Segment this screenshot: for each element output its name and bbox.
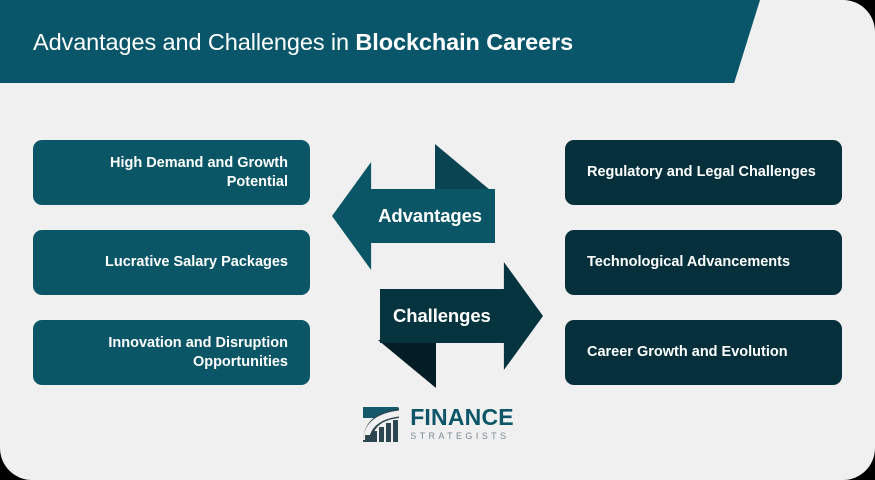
advantages-list: High Demand and Growth Potential Lucrati… bbox=[33, 140, 310, 385]
arrow-cluster: Advantages Challenges bbox=[330, 140, 545, 390]
list-item[interactable]: High Demand and Growth Potential bbox=[33, 140, 310, 205]
page-title-regular: Advantages and Challenges in bbox=[33, 29, 355, 55]
brand-logo[interactable]: FINANCE STRATEGISTS bbox=[0, 404, 875, 444]
list-item-label: Career Growth and Evolution bbox=[587, 343, 788, 362]
list-item[interactable]: Technological Advancements bbox=[565, 230, 842, 295]
list-item-label: Innovation and Disruption Opportunities bbox=[51, 334, 288, 372]
brand-logo-wordmark: FINANCE STRATEGISTS bbox=[410, 406, 514, 443]
brand-name-secondary: STRATEGISTS bbox=[410, 430, 514, 443]
list-item[interactable]: Innovation and Disruption Opportunities bbox=[33, 320, 310, 385]
infographic-root: Advantages and Challenges in Blockchain … bbox=[0, 0, 875, 480]
finance-strategists-bars-icon bbox=[361, 404, 401, 444]
list-item[interactable]: Regulatory and Legal Challenges bbox=[565, 140, 842, 205]
arrow-fold-bottom-icon bbox=[378, 340, 436, 388]
page-title: Advantages and Challenges in Blockchain … bbox=[33, 27, 733, 57]
list-item-label: Lucrative Salary Packages bbox=[105, 253, 288, 272]
list-item-label: Technological Advancements bbox=[587, 253, 790, 272]
arrow-fold-top-icon bbox=[435, 144, 490, 190]
list-item-label: High Demand and Growth Potential bbox=[51, 154, 288, 192]
challenges-arrow-label: Challenges bbox=[393, 305, 491, 327]
list-item[interactable]: Career Growth and Evolution bbox=[565, 320, 842, 385]
page-title-emphasis: Blockchain Careers bbox=[355, 29, 573, 55]
list-item-label: Regulatory and Legal Challenges bbox=[587, 163, 816, 182]
brand-name-primary: FINANCE bbox=[410, 406, 514, 429]
challenges-list: Regulatory and Legal Challenges Technolo… bbox=[565, 140, 842, 385]
advantages-arrow-label: Advantages bbox=[378, 205, 482, 227]
list-item[interactable]: Lucrative Salary Packages bbox=[33, 230, 310, 295]
